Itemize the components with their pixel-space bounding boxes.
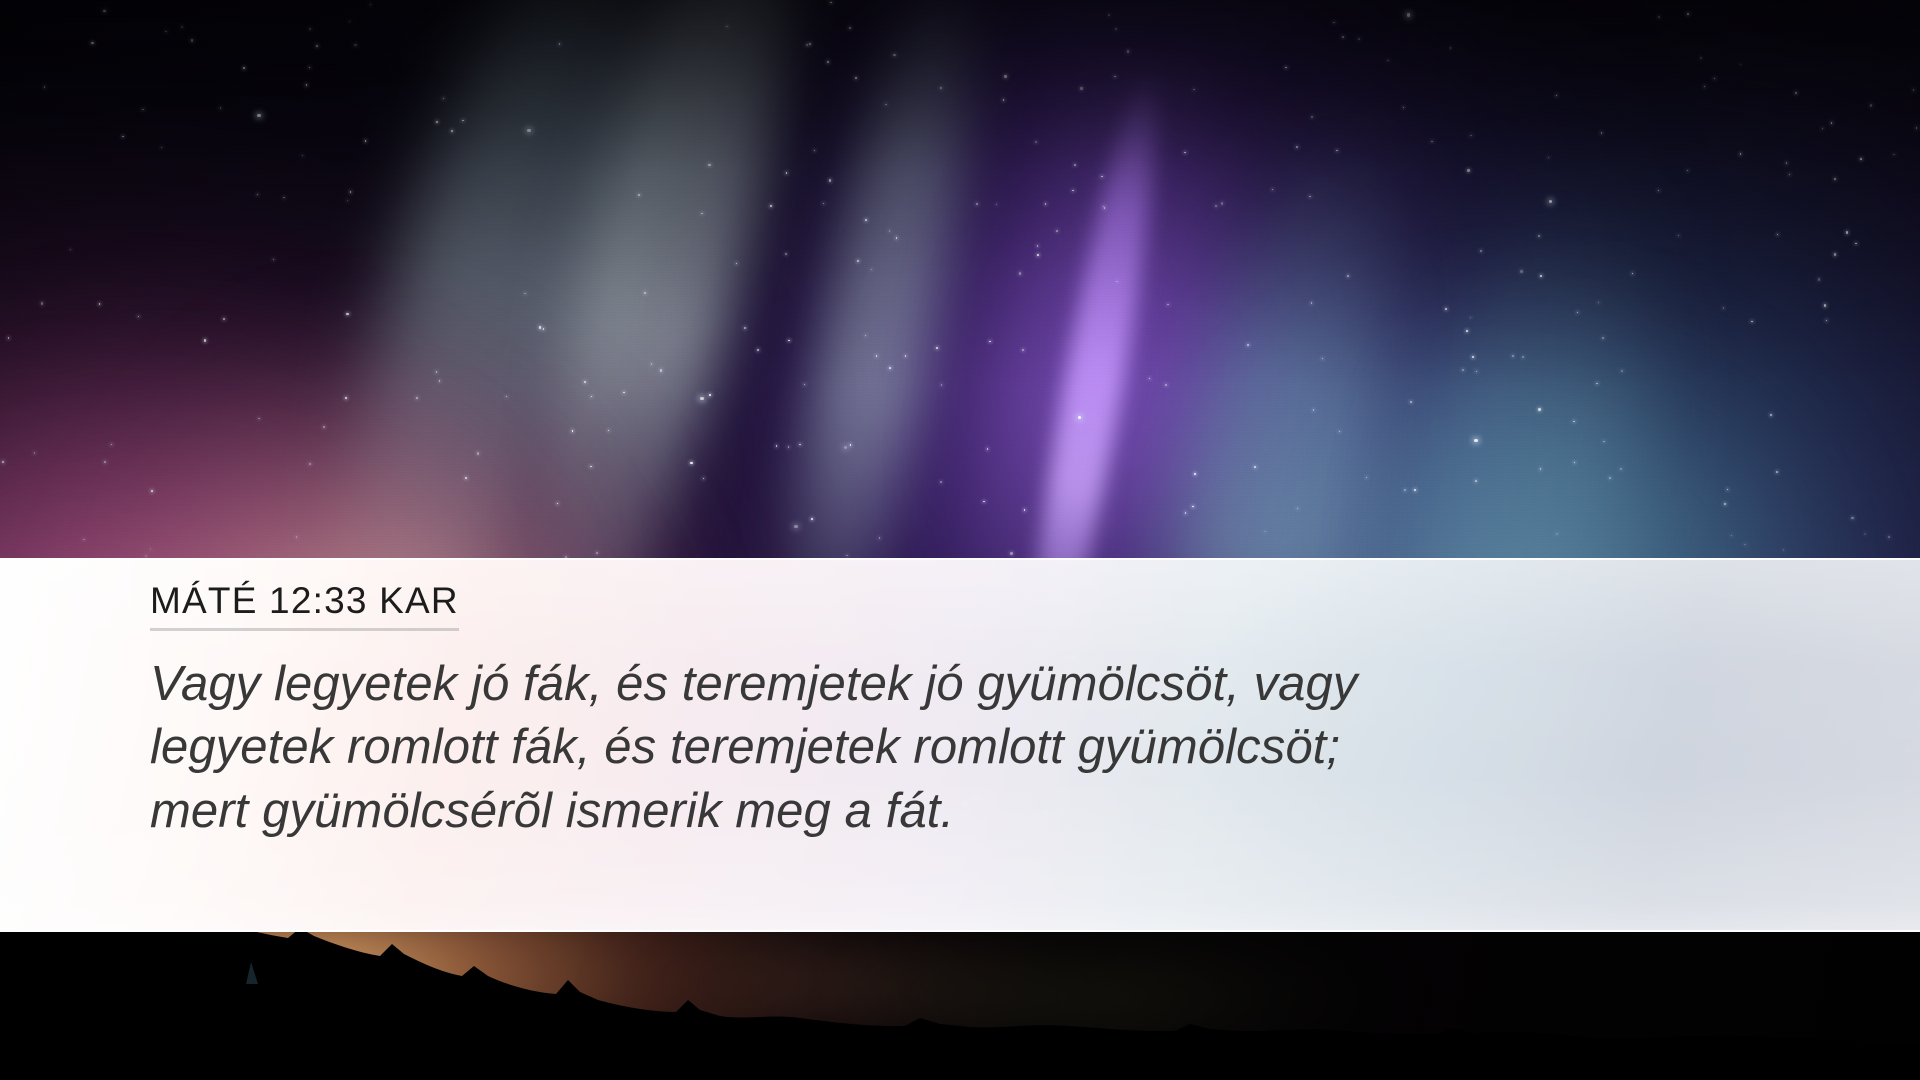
verse-line: mert gyümölcsérõl ismerik meg a fát.: [150, 780, 1550, 843]
landscape-foreground: [0, 932, 1920, 1080]
verse-line: Vagy legyetek jó fák, és teremjetek jó g…: [150, 653, 1550, 716]
band-bottom-hairline: [0, 930, 1920, 932]
verse-overlay-band: MÁTÉ 12:33 KAR Vagy legyetek jó fák, és …: [0, 558, 1920, 932]
verse-content: MÁTÉ 12:33 KAR Vagy legyetek jó fák, és …: [150, 582, 1830, 843]
verse-line: legyetek romlott fák, és teremjetek roml…: [150, 716, 1550, 779]
verse-text-block: Vagy legyetek jó fák, és teremjetek jó g…: [150, 653, 1550, 843]
tree-silhouette: [0, 932, 1920, 1080]
scripture-image-canvas: MÁTÉ 12:33 KAR Vagy legyetek jó fák, és …: [0, 0, 1920, 1080]
band-top-hairline: [0, 558, 1920, 560]
scripture-reference: MÁTÉ 12:33 KAR: [150, 582, 459, 631]
